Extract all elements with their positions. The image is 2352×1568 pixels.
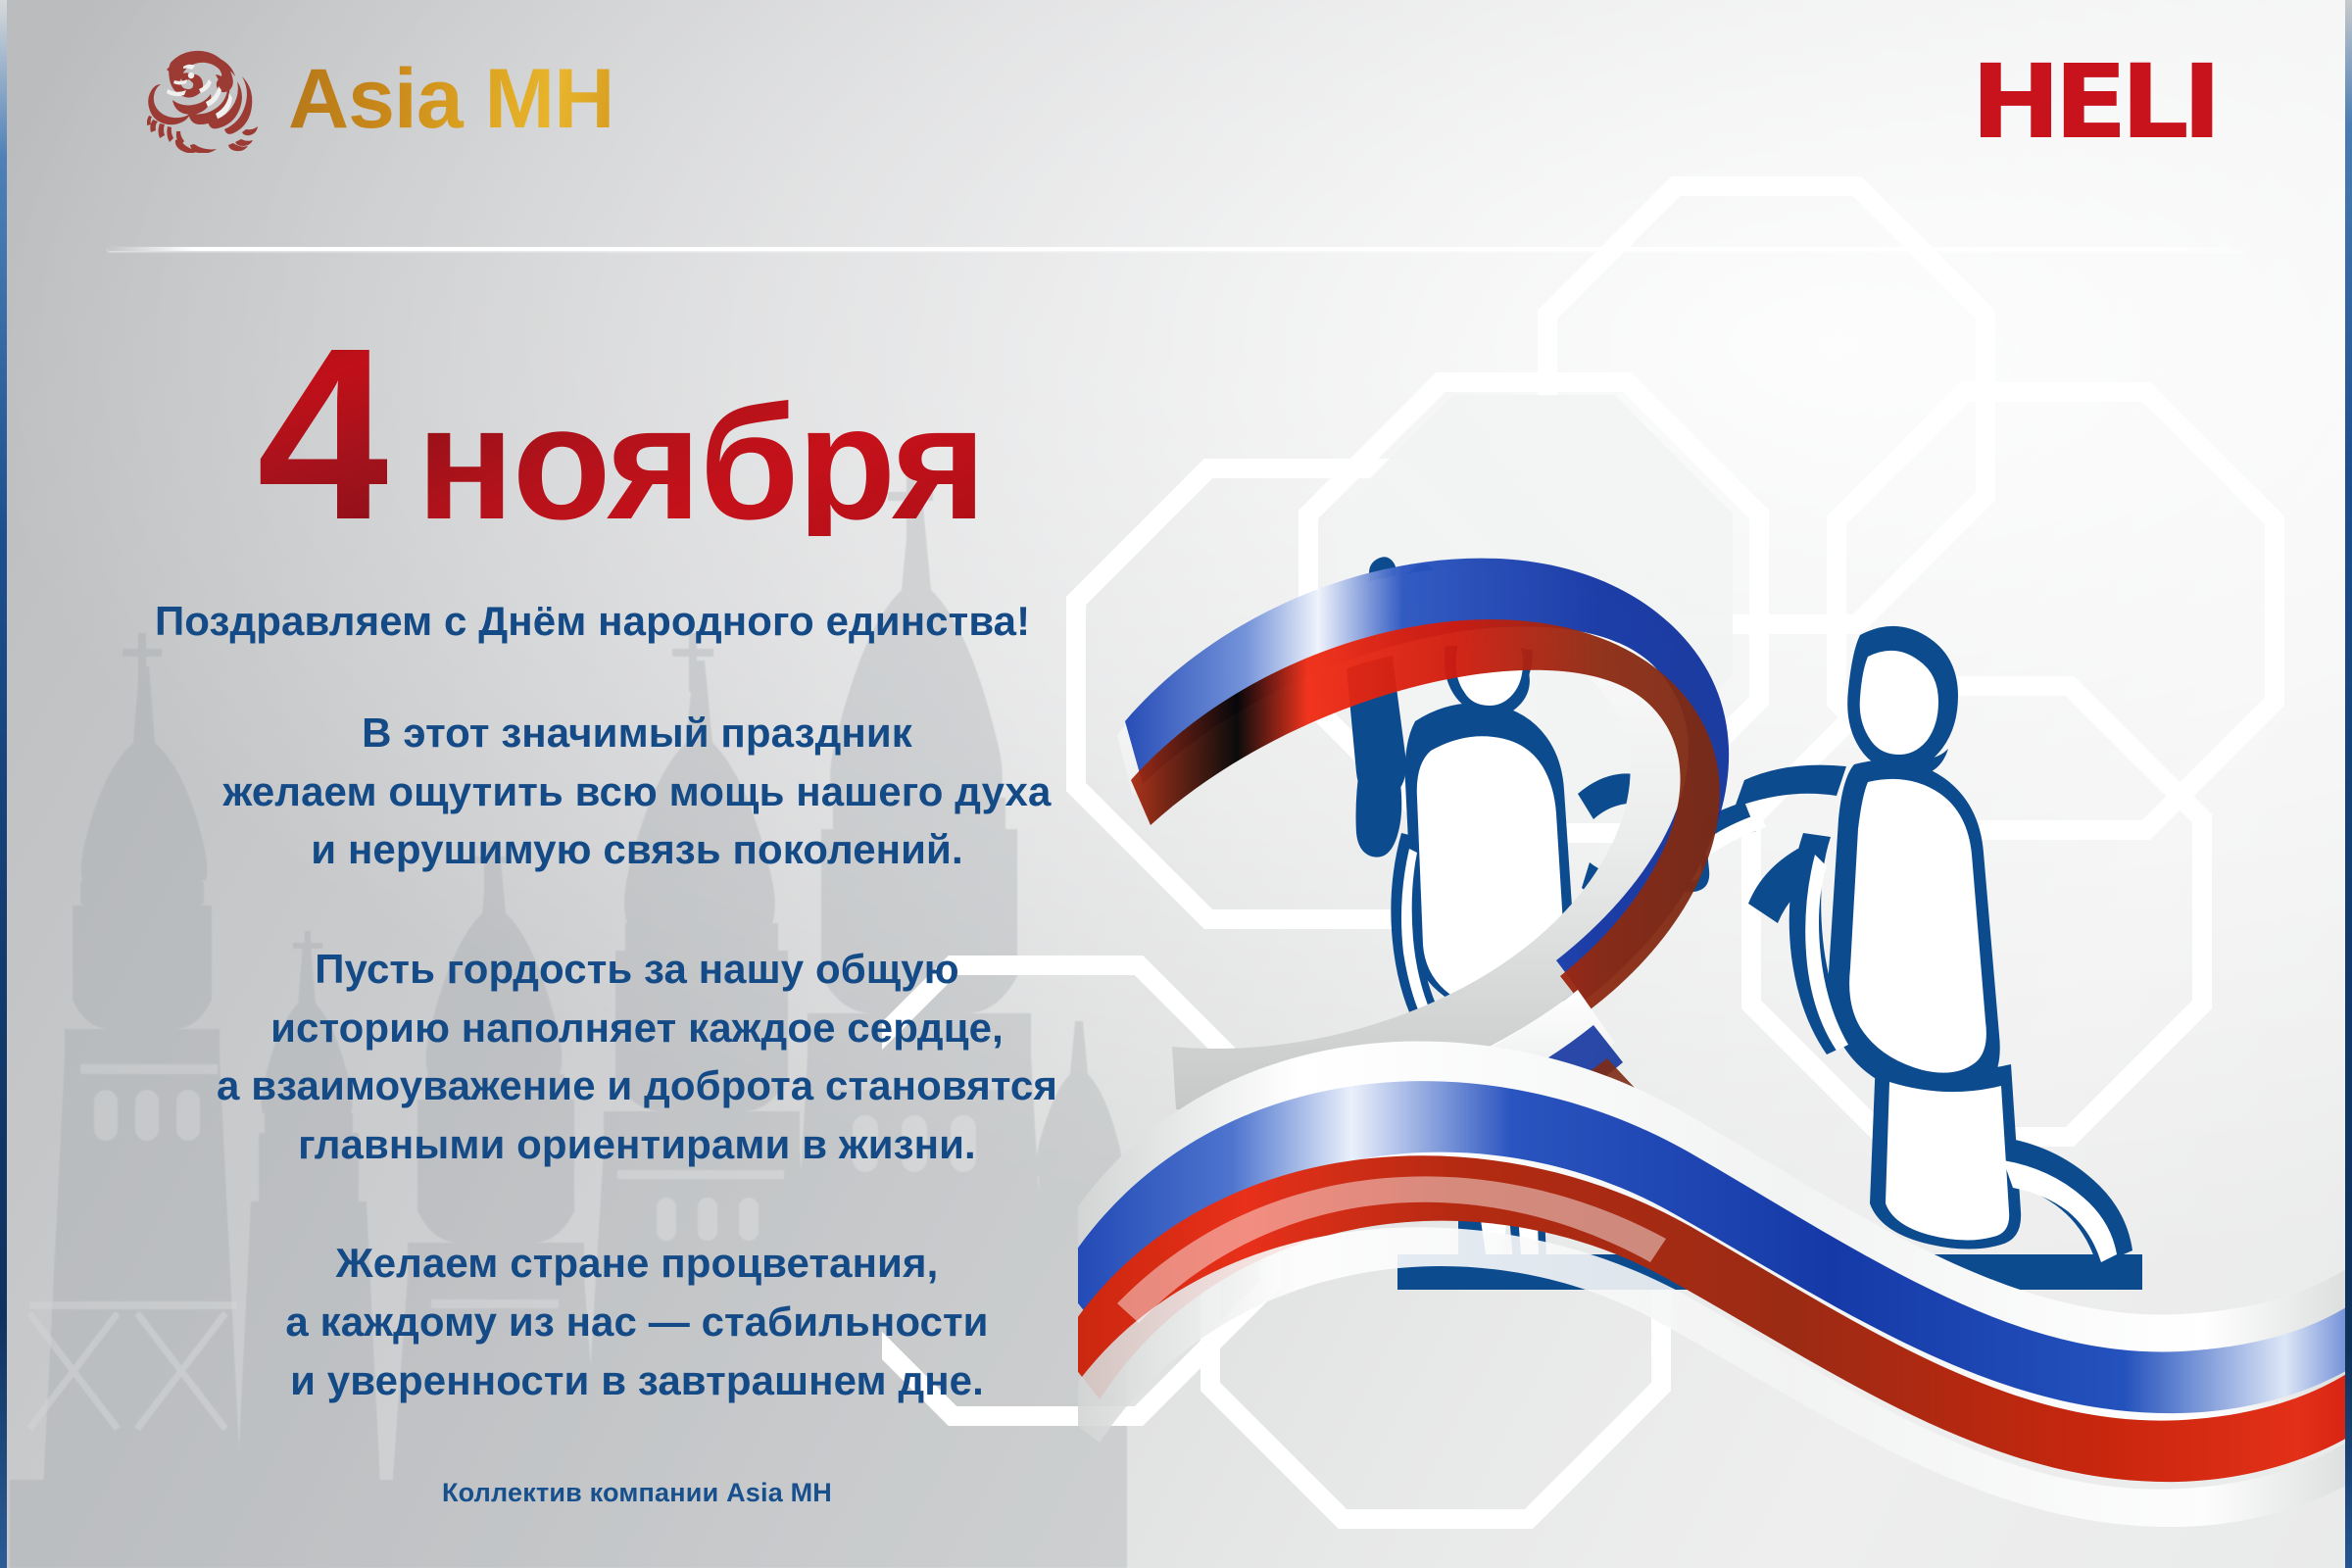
left-edge-stripe — [0, 0, 7, 1568]
message-body: Поздравляем с Днём народного единства! В… — [118, 598, 1156, 1535]
card-header: Asia MH HELI — [0, 0, 2352, 245]
brand-logo: Asia MH — [147, 45, 619, 153]
page-title: 4 ноября — [257, 331, 984, 537]
brand-name: Asia MH — [288, 57, 619, 141]
right-edge-stripe — [2345, 0, 2352, 1568]
russian-tricolor-ribbon-icon — [1117, 549, 2352, 1568]
message-paragraph-1: В этот значимый праздникжелаем ощутить в… — [118, 704, 1156, 879]
minin-and-pozharsky-monument-icon — [1254, 372, 2293, 1352]
greeting-card: Asia MH HELI 4 ноября Поздравляем с Днём… — [0, 0, 2352, 1568]
headline-month: ноября — [416, 390, 984, 536]
headline-day: 4 — [257, 331, 387, 537]
header-divider — [108, 247, 2246, 251]
message-paragraph-2: Пусть гордость за нашу общуюисторию напо… — [118, 940, 1156, 1174]
greeting-line: Поздравляем с Днём народного единства! — [155, 598, 1156, 645]
dragon-logo-icon — [147, 45, 263, 153]
message-paragraph-3: Желаем стране процветания,а каждому из н… — [118, 1234, 1156, 1409]
signature-line: Коллектив компании Asia MH — [118, 1478, 1156, 1508]
russian-tricolor-ribbon-front-icon — [1078, 882, 2352, 1568]
partner-logo-heli: HELI — [1971, 51, 2215, 153]
